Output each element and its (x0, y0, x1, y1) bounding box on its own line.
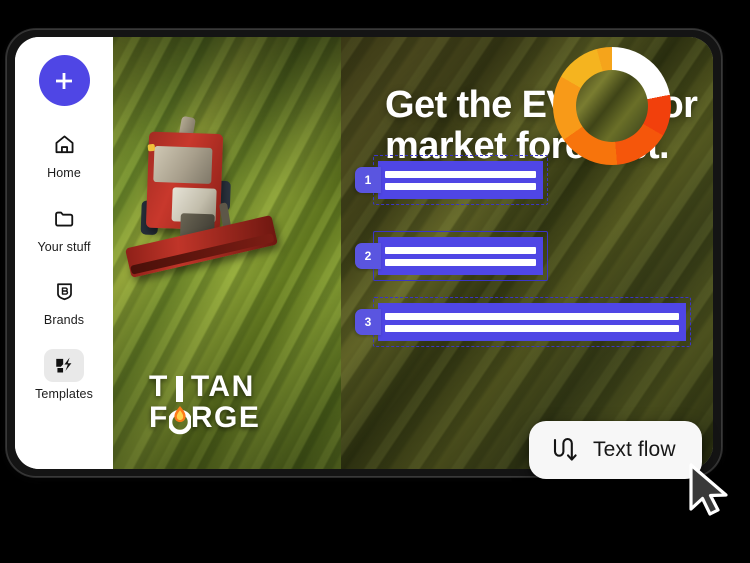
bar-item-3[interactable]: 3 (355, 303, 686, 341)
home-icon (53, 133, 76, 156)
folder-icon (53, 207, 76, 230)
template-photo-panel[interactable]: T TAN F (113, 37, 341, 469)
donut-hole-fill (576, 70, 648, 142)
logo-line2-suffix: RGE (191, 404, 261, 432)
logo-i-stem (169, 372, 191, 402)
sidebar-item-your-stuff[interactable]: Your stuff (21, 202, 107, 254)
plus-icon (52, 69, 76, 93)
bar-text-line (385, 183, 536, 190)
bar-text-line (385, 247, 536, 254)
text-flow-icon (551, 435, 579, 465)
bar-number-badge-1: 1 (355, 167, 381, 193)
selection-frame-3 (373, 297, 691, 347)
bar-item-1[interactable]: 1 (355, 161, 543, 199)
selection-frame-1 (373, 155, 548, 205)
bar-text-line (385, 313, 679, 320)
logo-line1-suffix: TAN (191, 373, 255, 401)
mouse-cursor (686, 462, 732, 523)
i-stem-icon (169, 374, 191, 404)
bar-text-line (385, 325, 679, 332)
logo-line1-prefix: T (149, 373, 169, 401)
text-flow-tooltip[interactable]: Text flow (529, 421, 702, 479)
logo-line-2: F RGE (149, 403, 305, 433)
bar-item-2[interactable]: 2 (355, 237, 543, 275)
folder-icon-box (44, 202, 84, 235)
bar-box-2[interactable] (378, 237, 543, 275)
combine-harvester-graphic (119, 102, 288, 287)
device-frame: Home Your stuff Brands (6, 29, 722, 477)
donut-hole (576, 70, 648, 142)
sidebar-item-label-brands: Brands (44, 314, 84, 327)
sidebar-item-label-your-stuff: Your stuff (37, 241, 90, 254)
bar-number-badge-3: 3 (355, 309, 381, 335)
design-canvas[interactable]: Get the EV tractor market forecast. 1 (341, 37, 713, 469)
titan-forge-logo: T TAN F (149, 372, 305, 433)
flame-icon (169, 405, 191, 435)
text-flow-label: Text flow (593, 438, 676, 462)
sidebar-item-brands[interactable]: Brands (21, 275, 107, 327)
templates-icon-box (44, 349, 84, 382)
bar-text-line (385, 171, 536, 178)
logo-line2-prefix: F (149, 404, 169, 432)
create-button[interactable] (39, 55, 90, 106)
brand-shield-icon (53, 280, 76, 303)
bar-text-line (385, 259, 536, 266)
selection-frame-2 (373, 231, 548, 281)
flame-icon-slot (169, 403, 191, 433)
donut-chart[interactable] (553, 47, 671, 165)
sidebar: Home Your stuff Brands (15, 37, 113, 469)
home-icon-box (44, 128, 84, 161)
brand-shield-icon-box (44, 275, 84, 308)
logo-line-1: T TAN (149, 372, 305, 402)
bar-box-1[interactable] (378, 161, 543, 199)
sidebar-item-label-templates: Templates (35, 388, 93, 401)
bar-number-badge-2: 2 (355, 243, 381, 269)
sidebar-item-templates[interactable]: Templates (21, 349, 107, 401)
arrow-pointer-icon (686, 462, 732, 518)
sidebar-item-home[interactable]: Home (21, 128, 107, 180)
bar-box-3[interactable] (378, 303, 686, 341)
app-screen: Home Your stuff Brands (15, 37, 713, 469)
sidebar-item-label-home: Home (47, 167, 81, 180)
templates-icon (53, 354, 76, 377)
